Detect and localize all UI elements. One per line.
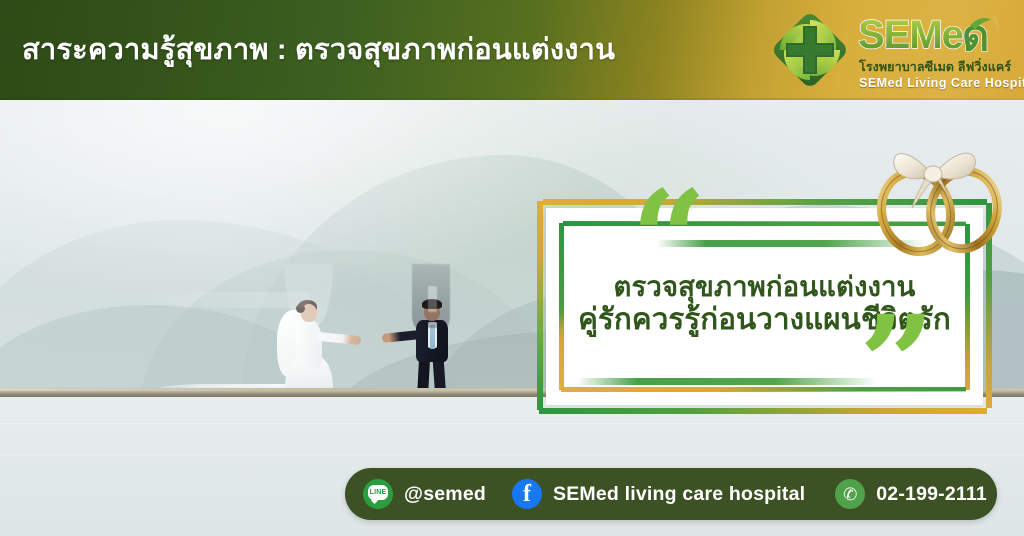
facebook-icon[interactable]: f: [512, 479, 542, 509]
contact-footer-bar: LINE @semed f SEMed living care hospital…: [345, 468, 997, 520]
contact-facebook[interactable]: f SEMed living care hospital: [512, 479, 805, 509]
facebook-glyph: f: [512, 479, 542, 509]
facebook-page-label: SEMed living care hospital: [553, 483, 805, 506]
contact-phone[interactable]: ✆ 02-199-2111: [835, 479, 987, 509]
logo-english-name: SEMed Living Care Hospital: [859, 76, 1007, 90]
page-title: สาระความรู้สุขภาพ : ตรวจสุขภาพก่อนแต่งงา…: [22, 26, 615, 72]
medical-cross-flower-icon: [764, 4, 856, 96]
promo-banner: สาระความรู้สุขภาพ : ตรวจสุขภาพก่อนแต่งงา…: [0, 0, 1024, 536]
phone-number-label: 02-199-2111: [876, 483, 987, 506]
svg-text:SEMe: SEMe: [858, 13, 963, 57]
bride-figure: [277, 298, 363, 399]
brand-logo[interactable]: SEMe ด โรงพยาบาลซีเมด ลีฟวิ่งแคร์ SEMed …: [764, 2, 1008, 98]
phone-icon[interactable]: ✆: [835, 479, 865, 509]
phone-glyph: ✆: [835, 479, 865, 509]
quote-open-mark: “: [631, 174, 707, 306]
contact-line[interactable]: LINE @semed: [363, 479, 486, 509]
logo-wordmark: SEMe ด: [858, 12, 1008, 60]
line-id-label: @semed: [404, 483, 486, 506]
quote-close-mark: ”: [859, 299, 935, 431]
quote-card: “ ” ตรวจสุขภาพก่อนแต่งงาน คู่รักควรรู้ก่…: [537, 199, 992, 414]
logo-lockup: SEMe ด โรงพยาบาลซีเมด ลีฟวิ่งแคร์ SEMed …: [858, 4, 1008, 96]
groom-figure: [396, 298, 470, 399]
line-app-icon[interactable]: LINE: [363, 479, 393, 509]
line-icon-word: LINE: [363, 485, 393, 500]
logo-thai-name: โรงพยาบาลซีเมด ลีฟวิ่งแคร์: [859, 57, 1007, 77]
